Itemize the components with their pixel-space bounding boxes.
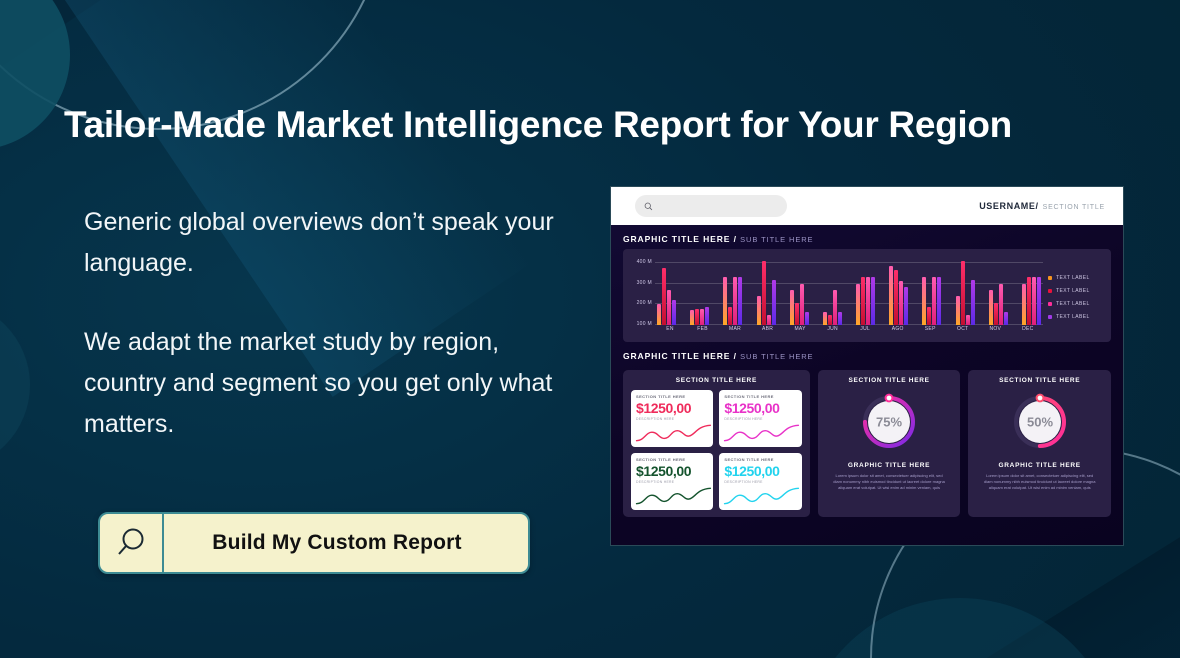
bar (805, 312, 809, 325)
bar (999, 284, 1003, 325)
bar (932, 277, 936, 325)
bar (899, 281, 903, 325)
topbar-user-area[interactable]: USERNAME/ SECTION TITLE (979, 201, 1105, 211)
chart-plot-area: ENFEBMARABRMAYJUNJULAGOSEPOCTNOVDEC (655, 256, 1043, 338)
bar (723, 277, 727, 325)
search-input[interactable] (635, 195, 787, 217)
chart-legend: TEXT LABELTEXT LABELTEXT LABELTEXT LABEL (1043, 256, 1105, 338)
metric-card[interactable]: SECTION TITLE HERE$1250,00DESCRIPTION HE… (631, 390, 713, 447)
y-axis-tick: 400 M (637, 259, 652, 265)
username-label: USERNAME/ (979, 201, 1038, 211)
bar (800, 284, 804, 325)
bar (1037, 277, 1041, 325)
slide-stage: Tailor-Made Market Intelligence Report f… (0, 0, 1180, 658)
bar (767, 315, 771, 325)
search-icon (100, 514, 164, 572)
legend-color-swatch (1048, 315, 1052, 319)
x-axis-tick: MAY (787, 326, 813, 338)
bar (728, 307, 732, 325)
bar (772, 280, 776, 325)
dashboard-body: GRAPHIC TITLE HERE / SUB TITLE HERE 100 … (611, 225, 1123, 546)
bar (956, 296, 960, 325)
cards-title-sub: SUB TITLE HERE (740, 352, 813, 361)
donut-chart: 75% (860, 393, 918, 456)
metric-card-value: $1250,00 (636, 400, 708, 416)
donut-section-title: SECTION TITLE HERE (999, 377, 1080, 384)
sparkline-chart (723, 423, 800, 443)
bar (1022, 284, 1026, 325)
bar (795, 303, 799, 325)
x-axis-tick: EN (657, 326, 683, 338)
metric-card-title: SECTION TITLE HERE (724, 457, 796, 462)
y-axis-tick: 100 M (637, 321, 652, 327)
metric-card-description: DESCRIPTION HERE (724, 480, 796, 484)
bar (894, 270, 898, 325)
metric-card-title: SECTION TITLE HERE (636, 457, 708, 462)
legend-item: TEXT LABEL (1048, 275, 1105, 281)
bar (1027, 277, 1031, 325)
bar (971, 280, 975, 325)
bar-group (757, 256, 776, 325)
donut-gauge: 50% (1011, 393, 1069, 451)
donut-section-title: SECTION TITLE HERE (848, 377, 929, 384)
bar (762, 261, 766, 325)
bar (922, 277, 926, 325)
build-custom-report-button[interactable]: Build My Custom Report (98, 512, 530, 574)
bar-group (956, 256, 975, 325)
bar (833, 290, 837, 325)
bar-group (690, 256, 709, 325)
chart-y-axis: 100 M200 M300 M400 M (629, 256, 655, 338)
chart-bars (655, 256, 1043, 325)
metric-card[interactable]: SECTION TITLE HERE$1250,00DESCRIPTION HE… (631, 453, 713, 510)
dashboard-lower-row: SECTION TITLE HERE SECTION TITLE HERE$12… (623, 370, 1111, 517)
x-axis-tick: JUN (820, 326, 846, 338)
bar (861, 277, 865, 325)
legend-label: TEXT LABEL (1056, 288, 1090, 294)
metric-card-value: $1250,00 (636, 463, 708, 479)
bar (989, 290, 993, 325)
cta-label: Build My Custom Report (164, 531, 528, 555)
donut-percent-label: 50% (1027, 415, 1053, 430)
metric-card-value: $1250,00 (724, 400, 796, 416)
bar (672, 300, 676, 325)
x-axis-tick: DEC (1015, 326, 1041, 338)
paragraph-one: Generic global overviews don’t speak you… (84, 202, 584, 284)
legend-item: TEXT LABEL (1048, 301, 1105, 307)
bar-chart-plot: 100 M200 M300 M400 M ENFEBMARABRMAYJUNJU… (629, 256, 1043, 338)
donut-body-text: Lorem ipsum dolor sit amet, consectetuer… (976, 473, 1103, 491)
bar (856, 284, 860, 325)
chart-x-axis: ENFEBMARABRMAYJUNJULAGOSEPOCTNOVDEC (655, 326, 1043, 338)
bar-group (989, 256, 1008, 325)
chart-block-title: GRAPHIC TITLE HERE / SUB TITLE HERE (623, 234, 1111, 244)
x-axis-tick: FEB (690, 326, 716, 338)
bar (757, 296, 761, 325)
x-axis-tick: NOV (982, 326, 1008, 338)
legend-item: TEXT LABEL (1048, 288, 1105, 294)
x-axis-tick: JUL (852, 326, 878, 338)
x-axis-tick: AGO (885, 326, 911, 338)
metric-card-title: SECTION TITLE HERE (724, 394, 796, 399)
legend-color-swatch (1048, 302, 1052, 306)
bar (733, 277, 737, 325)
bar-chart-panel: 100 M200 M300 M400 M ENFEBMARABRMAYJUNJU… (623, 249, 1111, 342)
metric-card-description: DESCRIPTION HERE (724, 417, 796, 421)
dashboard-preview: USERNAME/ SECTION TITLE GRAPHIC TITLE HE… (610, 186, 1124, 546)
y-axis-tick: 200 M (637, 300, 652, 306)
donut-graphic-title: GRAPHIC TITLE HERE (848, 462, 930, 469)
legend-label: TEXT LABEL (1056, 301, 1090, 307)
bar (889, 266, 893, 325)
metric-card-title: SECTION TITLE HERE (636, 394, 708, 399)
legend-label: TEXT LABEL (1056, 314, 1090, 320)
bar (823, 312, 827, 325)
metric-card-grid: SECTION TITLE HERE$1250,00DESCRIPTION HE… (631, 390, 802, 510)
bar-group (922, 256, 941, 325)
bar-group (790, 256, 809, 325)
bar-group (823, 256, 842, 325)
bar-group (657, 256, 676, 325)
cards-block-title: GRAPHIC TITLE HERE / SUB TITLE HERE (623, 351, 1111, 361)
donut-percent-label: 75% (876, 415, 902, 430)
bar-group (1022, 256, 1041, 325)
bar (690, 310, 694, 325)
legend-label: TEXT LABEL (1056, 275, 1090, 281)
bar (994, 303, 998, 325)
bar (966, 315, 970, 325)
bar-group (889, 256, 908, 325)
bar (1032, 277, 1036, 325)
legend-color-swatch (1048, 289, 1052, 293)
donut-graphic-title: GRAPHIC TITLE HERE (999, 462, 1081, 469)
donut-gauge: 75% (860, 393, 918, 451)
cards-section-title: SECTION TITLE HERE (631, 377, 802, 384)
bar (961, 261, 965, 325)
metric-card-value: $1250,00 (724, 463, 796, 479)
dashboard-topbar: USERNAME/ SECTION TITLE (611, 187, 1123, 225)
donut-panel-2: SECTION TITLE HERE 50% GRAPHIC TITLE HER… (968, 370, 1111, 517)
donut-panel-1: SECTION TITLE HERE 75% GRAPHIC TITLE HER… (818, 370, 961, 517)
legend-color-swatch (1048, 276, 1052, 280)
metric-card-description: DESCRIPTION HERE (636, 480, 708, 484)
paragraph-two: We adapt the market study by region, cou… (84, 322, 584, 445)
x-axis-tick: MAR (722, 326, 748, 338)
bar (871, 277, 875, 325)
bar-group (723, 256, 742, 325)
cards-title-main: GRAPHIC TITLE HERE / (623, 351, 737, 361)
bar-group (856, 256, 875, 325)
bar (700, 309, 704, 325)
bar (828, 315, 832, 325)
bar (1004, 312, 1008, 325)
bar (662, 268, 666, 325)
sparkline-chart (723, 486, 800, 506)
chart-title-sub: SUB TITLE HERE (740, 235, 813, 244)
bar (937, 277, 941, 325)
sparkline-chart (635, 486, 712, 506)
page-title: Tailor-Made Market Intelligence Report f… (64, 104, 1064, 146)
body-copy: Generic global overviews don’t speak you… (84, 202, 584, 445)
search-icon (644, 202, 653, 211)
bar (904, 287, 908, 325)
topbar-section-title: SECTION TITLE (1043, 204, 1105, 211)
bar (657, 304, 661, 325)
x-axis-tick: ABR (755, 326, 781, 338)
legend-item: TEXT LABEL (1048, 314, 1105, 320)
donut-chart: 50% (1011, 393, 1069, 456)
chart-title-main: GRAPHIC TITLE HERE / (623, 234, 737, 244)
y-axis-tick: 300 M (637, 280, 652, 286)
sparkline-chart (635, 423, 712, 443)
bar (667, 290, 671, 325)
bar (790, 290, 794, 325)
metric-card[interactable]: SECTION TITLE HERE$1250,00DESCRIPTION HE… (719, 390, 801, 447)
bar (738, 277, 742, 325)
metric-card-description: DESCRIPTION HERE (636, 417, 708, 421)
donut-body-text: Lorem ipsum dolor sit amet, consectetuer… (826, 473, 953, 491)
bar (866, 277, 870, 325)
bar (695, 309, 699, 325)
bar (927, 307, 931, 325)
x-axis-tick: SEP (917, 326, 943, 338)
metric-cards-panel: SECTION TITLE HERE SECTION TITLE HERE$12… (623, 370, 810, 517)
x-axis-tick: OCT (950, 326, 976, 338)
bar (705, 307, 709, 325)
metric-card[interactable]: SECTION TITLE HERE$1250,00DESCRIPTION HE… (719, 453, 801, 510)
bar (838, 312, 842, 325)
